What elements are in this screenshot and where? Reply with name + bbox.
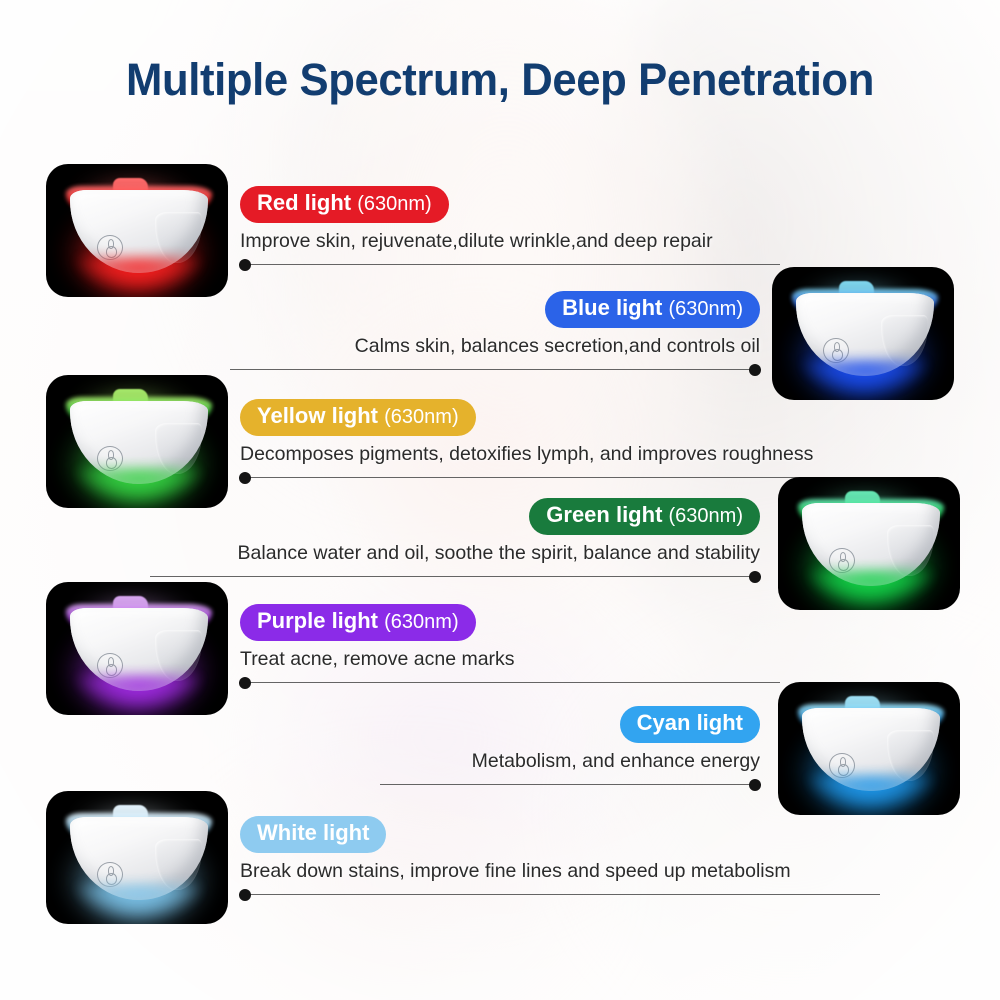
badge-green: Green light (630nm) [529, 498, 760, 535]
power-button-icon [97, 446, 123, 471]
connector-blue [230, 363, 760, 377]
row-cyan: Cyan light Metabolism, and enhance energ… [380, 706, 760, 792]
description-white: Break down stains, improve fine lines an… [240, 860, 880, 883]
row-blue: Blue light (630nm) Calms skin, balances … [230, 291, 760, 377]
product-image-purple [46, 582, 228, 715]
product-image-red [46, 164, 228, 297]
connector-green [150, 570, 760, 584]
page-title: Multiple Spectrum, Deep Penetration [15, 54, 985, 106]
power-button-icon [97, 235, 123, 260]
row-green: Green light (630nm) Balance water and oi… [150, 498, 760, 584]
badge-yellow: Yellow light (630nm) [240, 399, 476, 436]
power-button-icon [97, 653, 123, 678]
connector-purple [240, 676, 780, 690]
power-button-icon [829, 753, 855, 778]
description-yellow: Decomposes pigments, detoxifies lymph, a… [240, 443, 920, 466]
connector-red [240, 258, 780, 272]
row-yellow: Yellow light (630nm) Decomposes pigments… [240, 399, 920, 485]
product-image-white [46, 791, 228, 924]
badge-blue: Blue light (630nm) [545, 291, 760, 328]
product-image-cyan [778, 682, 960, 815]
power-button-icon [829, 548, 855, 573]
row-purple: Purple light (630nm) Treat acne, remove … [240, 604, 780, 690]
description-green: Balance water and oil, soothe the spirit… [150, 542, 760, 565]
badge-red: Red light (630nm) [240, 186, 449, 223]
connector-white [240, 888, 880, 902]
power-button-icon [97, 862, 123, 887]
badge-white: White light [240, 816, 386, 853]
badge-cyan: Cyan light [620, 706, 760, 743]
description-purple: Treat acne, remove acne marks [240, 648, 780, 671]
connector-cyan [380, 778, 760, 792]
description-cyan: Metabolism, and enhance energy [380, 750, 760, 773]
description-blue: Calms skin, balances secretion,and contr… [230, 335, 760, 358]
product-image-blue [772, 267, 954, 400]
row-white: White light Break down stains, improve f… [240, 816, 880, 902]
row-red: Red light (630nm) Improve skin, rejuvena… [240, 186, 780, 272]
badge-purple: Purple light (630nm) [240, 604, 476, 641]
infographic-stage: Multiple Spectrum, Deep Penetration Red … [0, 0, 1000, 1000]
product-image-green [778, 477, 960, 610]
power-button-icon [823, 338, 849, 363]
product-image-yellow [46, 375, 228, 508]
description-red: Improve skin, rejuvenate,dilute wrinkle,… [240, 230, 780, 253]
